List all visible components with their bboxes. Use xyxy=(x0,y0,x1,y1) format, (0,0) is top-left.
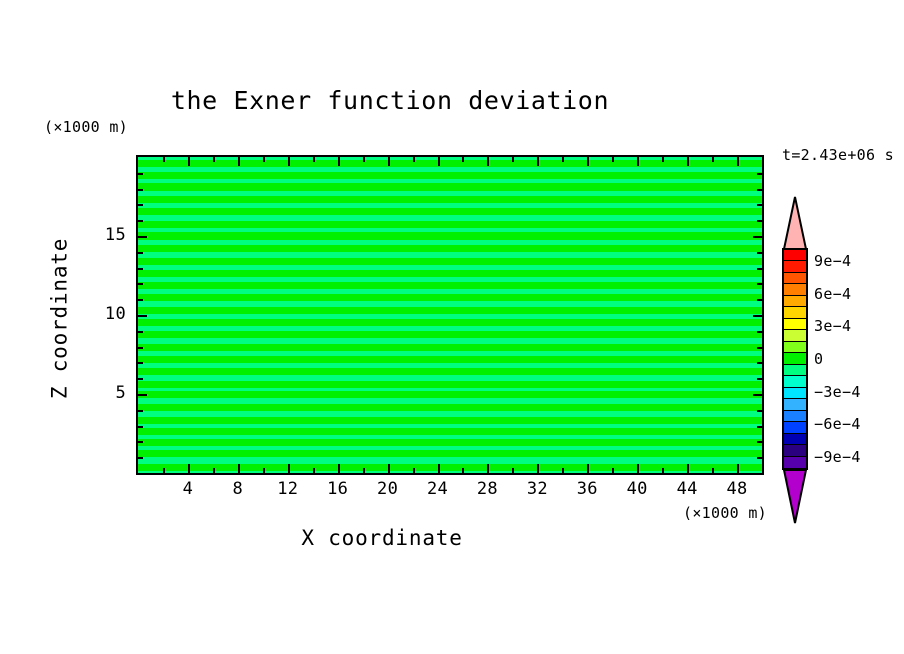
x-axis-tick xyxy=(363,157,365,162)
plot-area[interactable] xyxy=(136,155,764,475)
y-axis-tick xyxy=(138,394,147,396)
x-axis-tick xyxy=(313,157,315,162)
y-axis-tick xyxy=(757,362,762,364)
x-axis-tick xyxy=(687,464,689,473)
contour-stripe xyxy=(138,258,762,265)
colorbar-tick-label: −6e−4 xyxy=(814,417,861,432)
x-axis-tick xyxy=(438,464,440,473)
contour-stripe xyxy=(138,183,762,190)
y-axis-tick xyxy=(757,347,762,349)
x-axis-tick xyxy=(537,464,539,473)
colorbar-tick-label: 0 xyxy=(814,352,823,367)
x-axis-tick xyxy=(687,157,689,166)
contour-stripe xyxy=(138,464,762,471)
y-axis-tick xyxy=(753,315,762,317)
x-axis-tick xyxy=(263,468,265,473)
colorbar[interactable] xyxy=(782,196,808,522)
y-axis-unit-label: (×1000 m) xyxy=(44,120,128,135)
x-tick-label: 48 xyxy=(717,481,757,498)
x-tick-label: 4 xyxy=(168,481,208,498)
colorbar-bands xyxy=(782,248,808,470)
x-axis-tick xyxy=(413,157,415,162)
x-axis-tick xyxy=(537,157,539,166)
contour-stripe xyxy=(138,221,762,228)
x-tick-label: 36 xyxy=(567,481,607,498)
y-axis-tick xyxy=(757,268,762,270)
y-axis-tick xyxy=(138,189,143,191)
x-axis-tick xyxy=(612,157,614,162)
y-axis-tick xyxy=(138,173,143,175)
y-axis-tick xyxy=(138,268,143,270)
contour-stripe xyxy=(138,245,762,252)
x-tick-label: 40 xyxy=(617,481,657,498)
x-tick-label: 16 xyxy=(318,481,358,498)
x-axis-tick xyxy=(188,464,190,473)
contour-stripe xyxy=(138,270,762,277)
colorbar-tick-label: −9e−4 xyxy=(814,450,861,465)
x-axis-title: X coordinate xyxy=(0,528,764,549)
contour-stripe xyxy=(138,381,762,388)
x-axis-tick xyxy=(413,468,415,473)
y-axis-tick xyxy=(138,252,143,254)
contour-stripe xyxy=(138,368,762,375)
x-axis-tick xyxy=(213,468,215,473)
contour-stripe xyxy=(138,331,762,338)
y-axis-tick xyxy=(757,189,762,191)
y-axis-tick xyxy=(757,173,762,175)
y-axis-tick xyxy=(138,331,143,333)
colorbar-over-arrow-icon xyxy=(782,196,808,250)
x-tick-label: 32 xyxy=(517,481,557,498)
colorbar-band xyxy=(784,376,806,387)
contour-stripe xyxy=(138,439,762,446)
contour-stripe xyxy=(138,319,762,326)
y-axis-tick xyxy=(757,457,762,459)
colorbar-under-arrow-icon xyxy=(782,468,808,524)
colorbar-band xyxy=(784,457,806,468)
x-tick-label: 20 xyxy=(368,481,408,498)
x-tick-label: 28 xyxy=(467,481,507,498)
x-axis-unit-label: (×1000 m) xyxy=(683,506,767,521)
contour-stripe xyxy=(138,172,762,179)
x-axis-tick xyxy=(238,157,240,166)
x-axis-tick xyxy=(712,468,714,473)
y-axis-tick xyxy=(757,283,762,285)
y-axis-tick xyxy=(138,236,147,238)
colorbar-band xyxy=(784,445,806,456)
y-axis-title: Z coordinate xyxy=(50,219,71,419)
y-axis-tick xyxy=(757,426,762,428)
colorbar-tick-label: 6e−4 xyxy=(814,287,851,302)
x-axis-tick xyxy=(637,464,639,473)
x-axis-tick xyxy=(562,157,564,162)
x-axis-tick xyxy=(562,468,564,473)
contour-stripe xyxy=(138,294,762,301)
x-tick-label: 24 xyxy=(418,481,458,498)
x-axis-tick xyxy=(587,157,589,166)
x-tick-label: 12 xyxy=(268,481,308,498)
y-axis-tick xyxy=(138,426,143,428)
x-axis-tick xyxy=(487,157,489,166)
x-axis-tick xyxy=(213,157,215,162)
x-axis-tick xyxy=(338,464,340,473)
x-axis-tick xyxy=(512,468,514,473)
colorbar-band xyxy=(784,250,806,261)
y-axis-tick xyxy=(757,204,762,206)
x-axis-tick xyxy=(712,157,714,162)
x-axis-tick xyxy=(363,468,365,473)
y-axis-tick xyxy=(757,441,762,443)
x-axis-tick xyxy=(338,157,340,166)
x-axis-tick xyxy=(238,464,240,473)
x-tick-label: 8 xyxy=(218,481,258,498)
x-axis-tick xyxy=(587,464,589,473)
x-axis-tick xyxy=(288,464,290,473)
colorbar-band xyxy=(784,261,806,272)
contour-stripe xyxy=(138,307,762,314)
x-axis-tick xyxy=(612,468,614,473)
x-axis-tick xyxy=(163,468,165,473)
colorbar-tick-label: 9e−4 xyxy=(814,254,851,269)
y-axis-tick xyxy=(757,252,762,254)
y-axis-tick xyxy=(138,315,147,317)
contour-stripe xyxy=(138,196,762,203)
y-axis-tick xyxy=(138,457,143,459)
y-axis-tick xyxy=(753,394,762,396)
y-axis-tick xyxy=(753,236,762,238)
colorbar-band xyxy=(784,296,806,307)
page-title: the Exner function deviation xyxy=(0,88,780,113)
contour-stripe xyxy=(138,232,762,239)
colorbar-band xyxy=(784,319,806,330)
x-axis-tick xyxy=(637,157,639,166)
contour-stripe xyxy=(138,428,762,435)
y-axis-tick xyxy=(138,441,143,443)
y-axis-tick xyxy=(757,331,762,333)
y-tick-label: 5 xyxy=(86,385,126,402)
contour-stripe xyxy=(138,450,762,457)
y-axis-tick xyxy=(138,347,143,349)
y-axis-tick xyxy=(138,220,143,222)
x-axis-tick xyxy=(163,157,165,162)
y-axis-tick xyxy=(757,410,762,412)
y-axis-tick xyxy=(757,220,762,222)
x-axis-tick xyxy=(462,157,464,162)
x-axis-tick xyxy=(662,468,664,473)
colorbar-band xyxy=(784,342,806,353)
colorbar-band xyxy=(784,330,806,341)
x-axis-tick xyxy=(438,157,440,166)
contour-stripe xyxy=(138,160,762,167)
colorbar-tick-label: −3e−4 xyxy=(814,385,861,400)
colorbar-band xyxy=(784,353,806,364)
y-tick-label: 10 xyxy=(86,306,126,323)
x-axis-tick xyxy=(388,464,390,473)
x-axis-tick xyxy=(462,468,464,473)
colorbar-band xyxy=(784,411,806,422)
colorbar-band xyxy=(784,388,806,399)
contour-stripe xyxy=(138,404,762,411)
x-axis-tick xyxy=(512,157,514,162)
x-tick-label: 44 xyxy=(667,481,707,498)
contour-stripe xyxy=(138,208,762,215)
timestamp-annotation: t=2.43e+06 s xyxy=(782,148,894,163)
contour-field xyxy=(138,157,762,473)
contour-stripe xyxy=(138,391,762,398)
colorbar-band xyxy=(784,399,806,410)
colorbar-band xyxy=(784,422,806,433)
x-axis-tick xyxy=(188,157,190,166)
colorbar-band xyxy=(784,365,806,376)
colorbar-band xyxy=(784,307,806,318)
y-axis-tick xyxy=(138,299,143,301)
x-axis-tick xyxy=(263,157,265,162)
x-axis-tick xyxy=(288,157,290,166)
x-axis-tick xyxy=(313,468,315,473)
x-axis-tick xyxy=(737,464,739,473)
contour-stripe xyxy=(138,282,762,289)
x-axis-tick xyxy=(487,464,489,473)
y-axis-tick xyxy=(757,378,762,380)
x-axis-tick xyxy=(737,157,739,166)
colorbar-band xyxy=(784,284,806,295)
x-axis-tick xyxy=(388,157,390,166)
colorbar-tick-label: 3e−4 xyxy=(814,319,851,334)
contour-stripe xyxy=(138,344,762,351)
y-axis-tick xyxy=(138,283,143,285)
x-axis-tick xyxy=(662,157,664,162)
colorbar-band xyxy=(784,434,806,445)
colorbar-band xyxy=(784,273,806,284)
y-tick-label: 15 xyxy=(86,227,126,244)
y-axis-tick xyxy=(138,204,143,206)
y-axis-tick xyxy=(138,362,143,364)
contour-stripe xyxy=(138,356,762,363)
y-axis-tick xyxy=(138,378,143,380)
y-axis-tick xyxy=(138,410,143,412)
contour-stripe xyxy=(138,417,762,424)
y-axis-tick xyxy=(757,299,762,301)
